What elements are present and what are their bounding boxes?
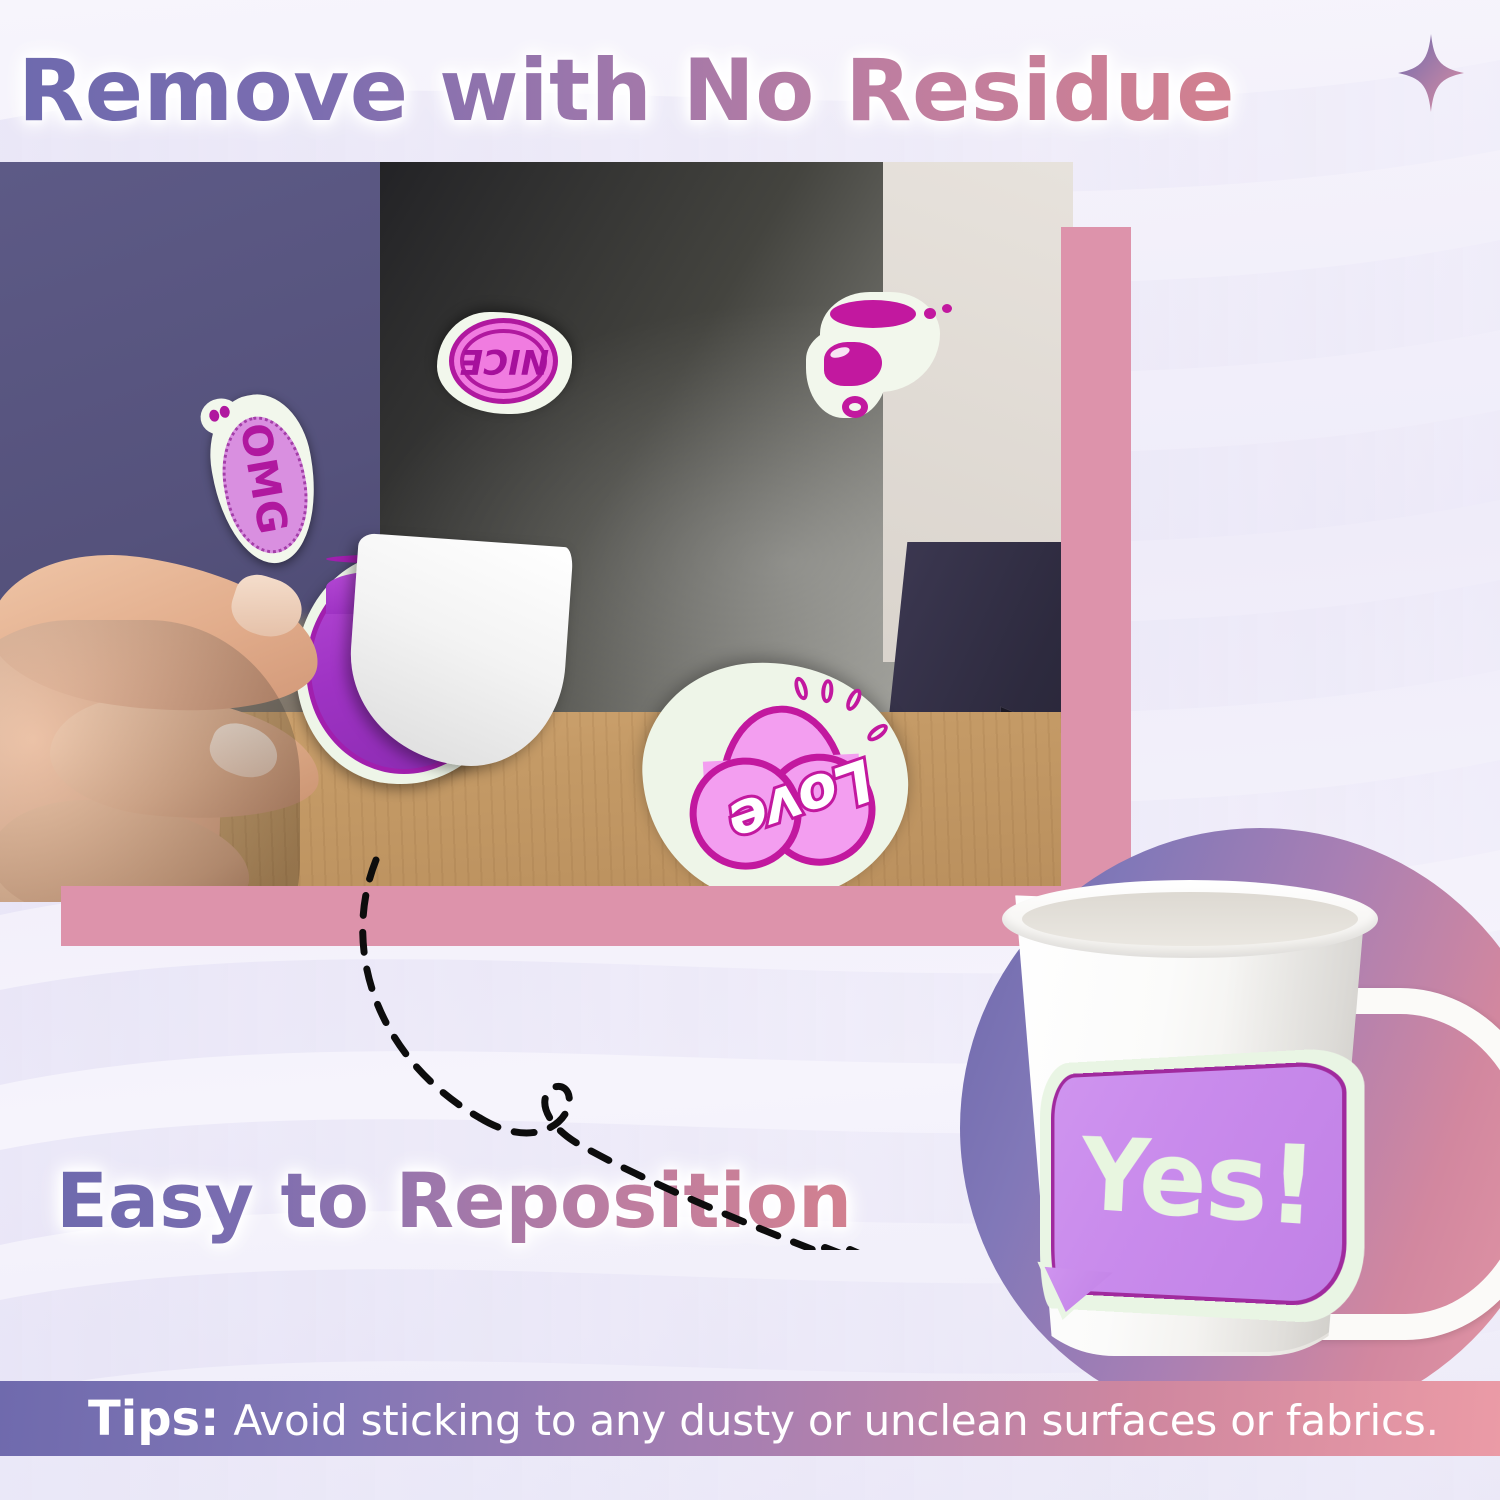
product-feature-graphic: Remove with No Residue Ctrl Shift — [0, 0, 1500, 1500]
mug-product-shot: Yes! — [960, 828, 1500, 1428]
sticker-yes: Yes! — [1026, 1056, 1356, 1316]
tips-banner: Tips: Avoid sticking to any dusty or unc… — [0, 1381, 1500, 1456]
sticker-yes-label: Yes! — [1079, 1125, 1320, 1242]
sticker-nice: NICE — [437, 312, 572, 414]
page-title-text: Remove with No Residue — [18, 41, 1235, 141]
page-title: Remove with No Residue — [18, 48, 1235, 134]
tips-text: Avoid sticking to any dusty or unclean s… — [233, 1396, 1438, 1445]
mug-interior — [1022, 892, 1358, 946]
sticker-nice-label: NICE — [460, 341, 549, 381]
hand-peeling-sticker — [0, 550, 360, 902]
sticker-cropped-blob — [800, 312, 940, 422]
dashed-curved-arrow-icon — [320, 830, 1020, 1250]
tips-label: Tips: — [88, 1391, 219, 1447]
sparkle-icon — [1398, 34, 1464, 112]
laptop-sticker-photo: Ctrl Shift OMG NICE — [0, 162, 1073, 902]
frame-bar-right — [1061, 227, 1131, 927]
